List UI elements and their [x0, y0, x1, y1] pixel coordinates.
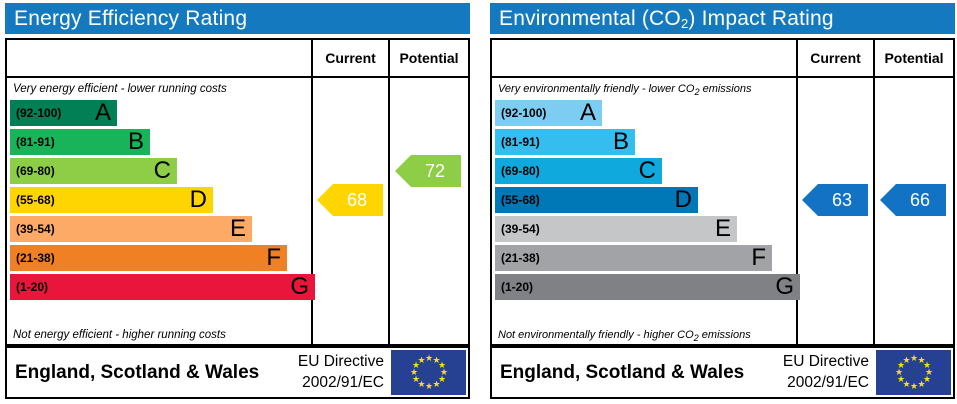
eu-flag-star: ★ [895, 369, 902, 376]
band-range-f: (21-38) [501, 245, 540, 271]
band-bar-f: (21-38)F [495, 245, 772, 271]
band-bar-c: (69-80)C [495, 158, 662, 184]
band-range-b: (81-91) [16, 129, 55, 155]
environmental-co2-impact-rating-chart: Environmental (CO2) Impact Rating Curren… [485, 0, 957, 404]
band-range-g: (1-20) [501, 274, 533, 300]
eu-flag-icon: ★★★★★★★★★★★★ [876, 350, 951, 395]
band-range-c: (69-80) [16, 158, 55, 184]
potential-rating-arrow-energy: 72 [395, 155, 461, 187]
environmental-chart-footer: England, Scotland & Wales EU Directive 2… [490, 346, 955, 399]
band-range-a: (92-100) [501, 100, 546, 126]
current-rating-arrow-environmental: 63 [802, 184, 868, 216]
band-letter-d: D [675, 187, 692, 213]
band-letter-e: E [715, 216, 731, 242]
column-header-potential: Potential [390, 40, 468, 76]
band-range-f: (21-38) [16, 245, 55, 271]
band-letter-g: G [290, 274, 309, 300]
footer-region-label: England, Scotland & Wales [15, 348, 259, 397]
band-range-d: (55-68) [501, 187, 540, 213]
eu-flag-star: ★ [433, 381, 440, 388]
eu-flag-star: ★ [410, 369, 417, 376]
chart-title-energy-text: Energy Efficiency Rating [14, 7, 247, 30]
footer-directive-line1: EU Directive [259, 351, 384, 372]
band-range-c: (69-80) [501, 158, 540, 184]
column-header-potential: Potential [875, 40, 953, 76]
eu-flag-star: ★ [918, 381, 925, 388]
eu-flag-star: ★ [425, 383, 432, 390]
column-header-current: Current [313, 40, 388, 76]
chart-title-environmental-text: Environmental (CO2) Impact Rating [499, 7, 834, 30]
footer-directive: EU Directive 2002/91/EC [259, 351, 384, 393]
footer-directive-line1: EU Directive [744, 351, 869, 372]
current-rating-arrow-energy: 68 [317, 184, 383, 216]
eu-flag-star: ★ [910, 383, 917, 390]
band-letter-a: A [580, 100, 596, 126]
footer-directive-line2: 2002/91/EC [259, 372, 384, 393]
eu-flag-star: ★ [425, 355, 432, 362]
band-letter-b: B [128, 129, 144, 155]
energy-rating-frame: Current Potential Very energy efficient … [5, 38, 470, 346]
eu-flag-star: ★ [910, 355, 917, 362]
potential-rating-arrow-environmental: 66 [880, 184, 946, 216]
footer-directive: EU Directive 2002/91/EC [744, 351, 869, 393]
band-range-d: (55-68) [16, 187, 55, 213]
band-range-b: (81-91) [501, 129, 540, 155]
band-bar-a: (92-100)A [10, 100, 117, 126]
band-letter-b: B [613, 129, 629, 155]
band-letter-e: E [230, 216, 246, 242]
band-bar-f: (21-38)F [10, 245, 287, 271]
environmental-rating-frame: Current Potential Very environmentally f… [490, 38, 955, 346]
band-range-a: (92-100) [16, 100, 61, 126]
column-divider-potential [388, 40, 390, 344]
band-letter-c: C [639, 158, 656, 184]
chart-title-energy: Energy Efficiency Rating [5, 3, 470, 34]
band-bar-g: (1-20)G [495, 274, 800, 300]
eu-flag-star: ★ [412, 376, 419, 383]
energy-efficiency-rating-chart: Energy Efficiency Rating Current Potenti… [0, 0, 475, 404]
eu-flag-star: ★ [897, 376, 904, 383]
band-range-g: (1-20) [16, 274, 48, 300]
eu-flag-icon: ★★★★★★★★★★★★ [391, 350, 466, 395]
band-letter-c: C [154, 158, 171, 184]
band-letter-f: F [266, 245, 281, 271]
footer-region-label: England, Scotland & Wales [500, 348, 744, 397]
band-bar-a: (92-100)A [495, 100, 602, 126]
energy-chart-footer: England, Scotland & Wales EU Directive 2… [5, 346, 470, 399]
band-bar-c: (69-80)C [10, 158, 177, 184]
band-range-e: (39-54) [501, 216, 540, 242]
band-bar-e: (39-54)E [10, 216, 252, 242]
band-letter-d: D [190, 187, 207, 213]
chart-title-environmental: Environmental (CO2) Impact Rating [490, 3, 955, 34]
eu-flag-star: ★ [418, 357, 425, 364]
band-letter-f: F [751, 245, 766, 271]
energy-band-bars: (92-100)A(81-91)B(69-80)C(55-68)D(39-54)… [7, 40, 311, 344]
eu-flag-star: ★ [903, 357, 910, 364]
band-bar-g: (1-20)G [10, 274, 315, 300]
band-bar-b: (81-91)B [10, 129, 150, 155]
band-range-e: (39-54) [16, 216, 55, 242]
band-bar-d: (55-68)D [10, 187, 213, 213]
environmental-band-bars: (92-100)A(81-91)B(69-80)C(55-68)D(39-54)… [492, 40, 796, 344]
column-divider-potential [873, 40, 875, 344]
footer-directive-line2: 2002/91/EC [744, 372, 869, 393]
column-header-current: Current [798, 40, 873, 76]
band-bar-d: (55-68)D [495, 187, 698, 213]
band-letter-a: A [95, 100, 111, 126]
band-bar-e: (39-54)E [495, 216, 737, 242]
epc-charts-page: Energy Efficiency Rating Current Potenti… [0, 0, 957, 404]
band-letter-g: G [775, 274, 794, 300]
band-bar-b: (81-91)B [495, 129, 635, 155]
